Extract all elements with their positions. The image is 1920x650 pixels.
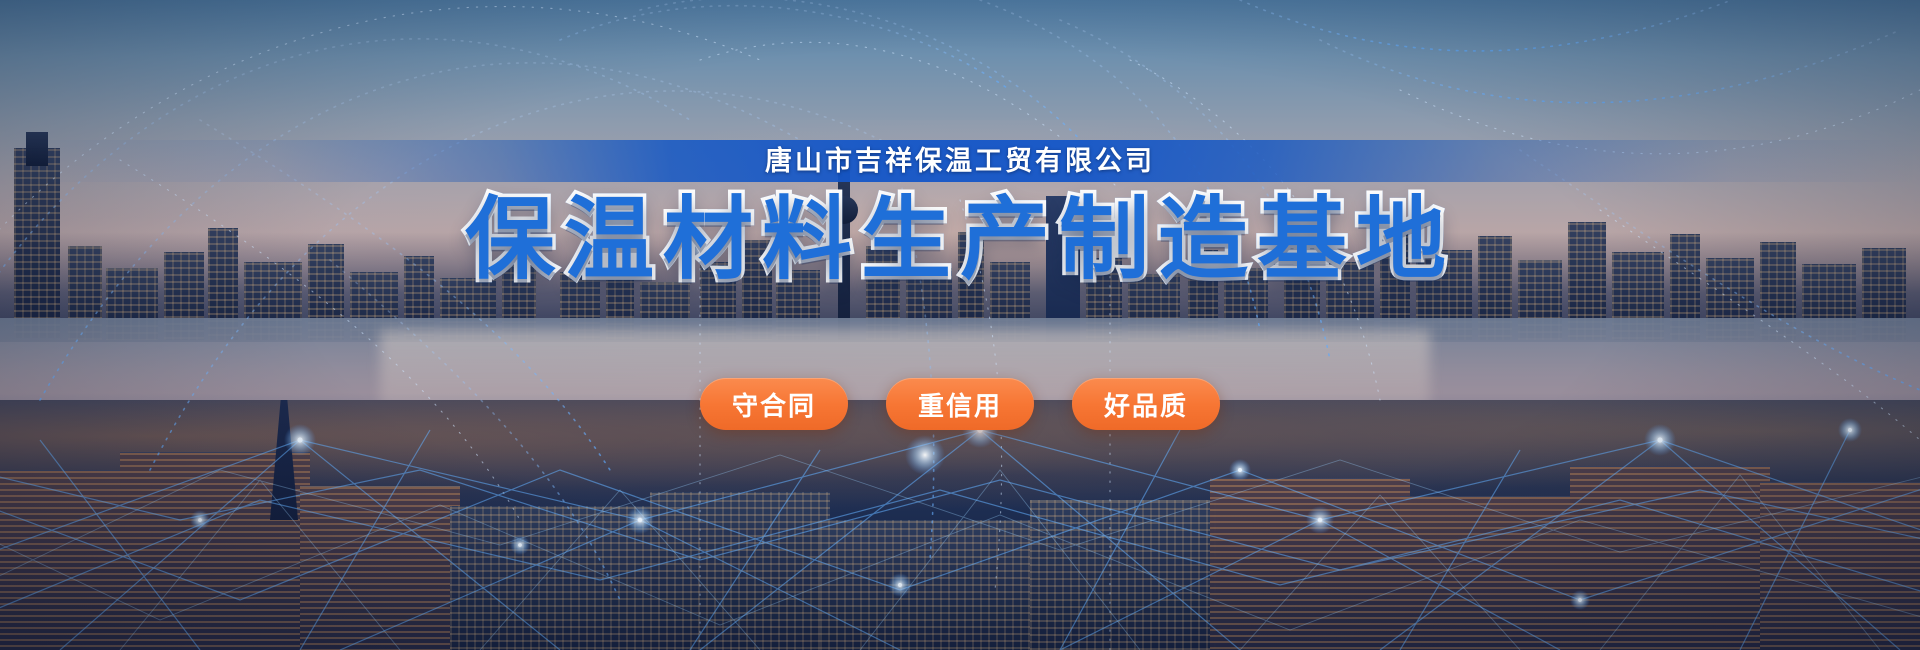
banner-content: 唐山市吉祥保温工贸有限公司 保温材料生产制造基地 守合同 重信用 好品质 [0, 0, 1920, 650]
badge-row: 守合同 重信用 好品质 [0, 378, 1920, 430]
badge-label: 守合同 [732, 386, 816, 423]
hero-banner: .arc { fill:none; stroke:url(#meshFade);… [0, 0, 1920, 650]
badge-shou-he-tong[interactable]: 守合同 [700, 378, 848, 430]
page-title: 保温材料生产制造基地 [0, 186, 1920, 294]
badge-label: 重信用 [918, 386, 1002, 423]
headline-text: 保温材料生产制造基地 [465, 190, 1455, 290]
badge-hao-pin-zhi[interactable]: 好品质 [1072, 378, 1220, 430]
badge-label: 好品质 [1104, 386, 1188, 423]
badge-zhong-xin-yong[interactable]: 重信用 [886, 378, 1034, 430]
company-name: 唐山市吉祥保温工贸有限公司 [0, 140, 1920, 182]
